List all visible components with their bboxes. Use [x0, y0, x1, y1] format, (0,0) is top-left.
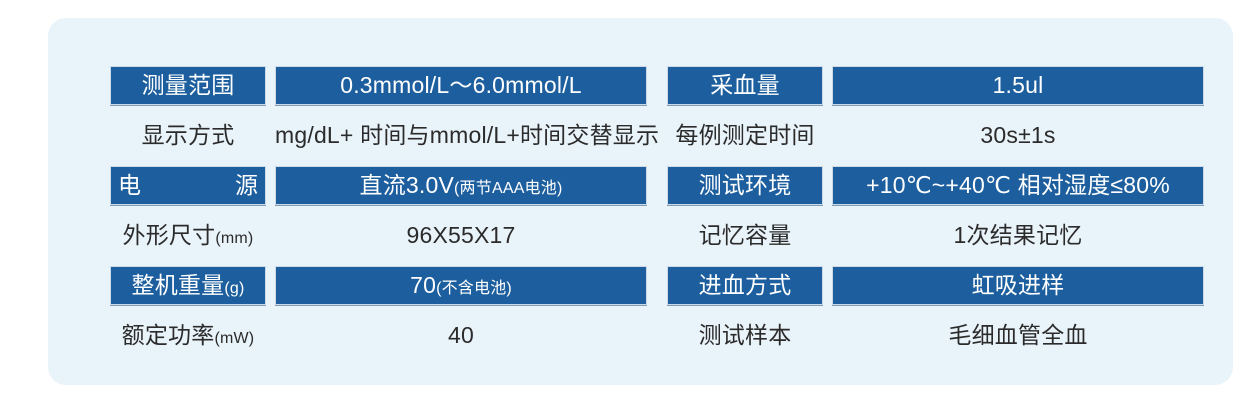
spec-row: 显示方式 mg/dL+ 时间与mmol/L+时间交替显示 — [110, 105, 647, 166]
spec-label-text: 测试样本 — [699, 324, 792, 347]
spec-value-main: 70 — [410, 272, 436, 298]
spec-label-sub: (mm) — [215, 230, 253, 247]
spec-value-cell: 虹吸进样 — [832, 266, 1204, 305]
spec-value-main: 直流3.0V — [360, 172, 455, 198]
spec-value-cell: 毛细血管全血 — [832, 305, 1204, 366]
spec-label-text: 采血量 — [710, 74, 780, 97]
spec-value-text: 1次结果记忆 — [954, 224, 1083, 247]
spec-label-text: 每例测定时间 — [675, 124, 814, 147]
spec-value-cell: 70(不含电池) — [275, 266, 647, 305]
spec-value-text: +10℃~+40℃ 相对湿度≤80% — [866, 174, 1170, 197]
left-column: 测量范围 0.3mmol/L～6.0mmol/L 显示方式 mg/dL+ 时间与… — [110, 66, 647, 366]
spec-value-cell: 40 — [275, 305, 647, 366]
spec-value-text: 0.3mmol/L～6.0mmol/L — [340, 74, 582, 97]
spec-value-cell: 96X55X17 — [275, 205, 647, 266]
spec-value-text: 96X55X17 — [406, 224, 515, 247]
spec-value-sub: (不含电池) — [436, 280, 512, 297]
spec-value-text: 毛细血管全血 — [948, 324, 1087, 347]
spec-label-main: 外形尺寸 — [123, 222, 216, 248]
spec-row: 整机重量(g) 70(不含电池) — [110, 266, 647, 305]
spec-label-cell: 测试样本 — [667, 305, 823, 366]
spec-label-cell: 每例测定时间 — [667, 105, 823, 166]
spec-label-text: 测试环境 — [699, 174, 792, 197]
spec-label-text: 外形尺寸(mm) — [123, 224, 254, 247]
spec-label-cell: 额定功率(mW) — [110, 305, 266, 366]
spec-label-cell: 电 源 — [110, 166, 266, 205]
spec-label-cell: 外形尺寸(mm) — [110, 205, 266, 266]
spec-value-text: 70(不含电池) — [410, 274, 512, 297]
spec-label-sub: (g) — [224, 280, 244, 297]
right-column: 采血量 1.5ul 每例测定时间 30s±1s 测试环境 + — [667, 66, 1204, 366]
spec-label-text: 记忆容量 — [699, 224, 792, 247]
spec-value-sub: (两节AAA电池) — [454, 180, 562, 197]
spec-label-cell: 进血方式 — [667, 266, 823, 305]
spec-value-text: 虹吸进样 — [972, 274, 1065, 297]
spec-label-text: 显示方式 — [142, 124, 235, 147]
spec-grid: 测量范围 0.3mmol/L～6.0mmol/L 显示方式 mg/dL+ 时间与… — [110, 66, 1205, 366]
spec-label-cell: 测试环境 — [667, 166, 823, 205]
spec-row: 测试环境 +10℃~+40℃ 相对湿度≤80% — [667, 166, 1204, 205]
spec-label-cell: 显示方式 — [110, 105, 266, 166]
spec-value-cell: 1.5ul — [832, 66, 1204, 105]
spec-label-text: 整机重量(g) — [132, 274, 245, 297]
spec-row: 测量范围 0.3mmol/L～6.0mmol/L — [110, 66, 647, 105]
spec-label-text: 进血方式 — [699, 274, 792, 297]
spec-row: 记忆容量 1次结果记忆 — [667, 205, 1204, 266]
spec-label-main: 整机重量 — [132, 272, 225, 298]
spec-row: 进血方式 虹吸进样 — [667, 266, 1204, 305]
spec-label-cell: 记忆容量 — [667, 205, 823, 266]
spec-row: 每例测定时间 30s±1s — [667, 105, 1204, 166]
spec-label-text: 电 源 — [102, 174, 274, 197]
spec-row: 额定功率(mW) 40 — [110, 305, 647, 366]
spec-label-text: 测量范围 — [142, 74, 235, 97]
spec-row: 外形尺寸(mm) 96X55X17 — [110, 205, 647, 266]
spec-row: 电 源 直流3.0V(两节AAA电池) — [110, 166, 647, 205]
spec-label-sub: (mW) — [214, 330, 254, 347]
spec-label-cell: 采血量 — [667, 66, 823, 105]
spec-value-cell: 0.3mmol/L～6.0mmol/L — [275, 66, 647, 105]
spec-label-cell: 整机重量(g) — [110, 266, 266, 305]
spec-value-cell: 直流3.0V(两节AAA电池) — [275, 166, 647, 205]
spec-value-text: 1.5ul — [993, 74, 1044, 97]
spec-row: 测试样本 毛细血管全血 — [667, 305, 1204, 366]
spec-value-cell: 1次结果记忆 — [832, 205, 1204, 266]
spec-panel: 测量范围 0.3mmol/L～6.0mmol/L 显示方式 mg/dL+ 时间与… — [48, 18, 1233, 385]
spec-row: 采血量 1.5ul — [667, 66, 1204, 105]
spec-value-cell: mg/dL+ 时间与mmol/L+时间交替显示 — [275, 105, 659, 166]
spec-value-text: 直流3.0V(两节AAA电池) — [360, 174, 563, 197]
spec-label-cell: 测量范围 — [110, 66, 266, 105]
spec-value-text: 40 — [448, 324, 474, 347]
spec-label-main: 额定功率 — [122, 322, 215, 348]
spec-value-text: mg/dL+ 时间与mmol/L+时间交替显示 — [275, 124, 659, 147]
spec-value-cell: 30s±1s — [832, 105, 1204, 166]
spec-value-cell: +10℃~+40℃ 相对湿度≤80% — [832, 166, 1204, 205]
spec-label-text: 额定功率(mW) — [122, 324, 255, 347]
spec-value-text: 30s±1s — [980, 124, 1055, 147]
